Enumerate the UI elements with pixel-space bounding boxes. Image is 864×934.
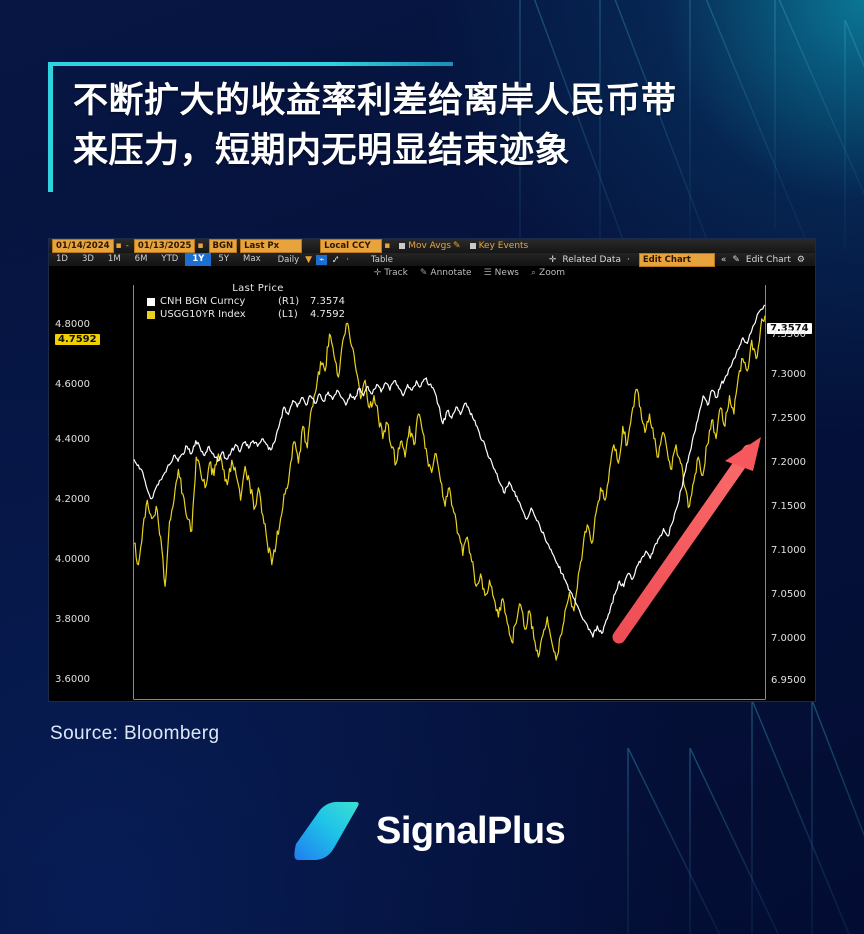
mov-avgs-edit-icon[interactable]: ✎ <box>453 241 461 251</box>
news-tool[interactable]: ☰News <box>484 268 519 278</box>
series-line-usgg10yr-index <box>134 316 765 660</box>
related-data-button[interactable]: Related Data <box>562 255 621 265</box>
terminal-toolbar-row-1: 01/14/2024 ▪ - 01/13/2025 ▪ BGN Last Px … <box>49 239 815 253</box>
chart-series-svg <box>49 279 816 702</box>
period-1d[interactable]: 1D <box>49 253 75 266</box>
brand-name: SignalPlus <box>376 810 565 853</box>
currency-dropdown-icon[interactable]: ▪ <box>384 241 390 251</box>
legend-axis-usgg10yr: (L1) <box>278 308 310 321</box>
price-field-selector[interactable]: Last Px <box>240 239 302 253</box>
date-to-field[interactable]: 01/13/2025 <box>134 239 196 253</box>
annotate-tool[interactable]: ✎Annotate <box>420 268 472 278</box>
period-1y[interactable]: 1Y <box>185 253 211 266</box>
table-button[interactable]: Table <box>367 255 397 265</box>
chart-legend: Last Price CNH BGN Curncy (R1) 7.3574 US… <box>144 281 351 323</box>
chart-axis-lines <box>134 285 766 700</box>
signalplus-logo-icon <box>290 800 362 862</box>
frequency-dropdown-icon[interactable]: ▼ <box>305 255 312 265</box>
legend-item-usgg10yr: USGG10YR Index (L1) 4.7592 <box>147 308 345 321</box>
currency-selector[interactable]: Local CCY <box>320 239 382 253</box>
track-tool[interactable]: ✛Track <box>374 268 408 278</box>
zoom-icon: ⌕ <box>531 268 536 278</box>
date-from-dropdown-icon[interactable]: ▪ <box>116 241 122 251</box>
chart-plot-area: Last Price CNH BGN Curncy (R1) 7.3574 US… <box>49 279 815 701</box>
mov-avgs-checkbox[interactable] <box>399 243 405 249</box>
title-block: 不断扩大的收益率利差给离岸人民币带 来压力，短期内无明显结束迹象 <box>48 62 838 175</box>
source-code-field[interactable]: BGN <box>209 239 238 253</box>
title-top-rule <box>48 62 453 66</box>
track-label: Track <box>384 268 408 278</box>
period-ytd[interactable]: YTD <box>154 253 185 266</box>
mov-avgs-label[interactable]: Mov Avgs <box>408 241 451 251</box>
legend-name-cnh: CNH BGN Curncy <box>160 295 278 308</box>
key-events-label[interactable]: Key Events <box>479 241 529 251</box>
page-title-line-1: 不断扩大的收益率利差给离岸人民币带 <box>73 76 843 126</box>
edit-input-field[interactable]: Edit Chart <box>639 253 715 267</box>
bloomberg-chart-panel: 01/14/2024 ▪ - 01/13/2025 ▪ BGN Last Px … <box>48 238 816 702</box>
source-caption: Source: Bloomberg <box>50 723 219 745</box>
legend-item-cnh: CNH BGN Curncy (R1) 7.3574 <box>147 295 345 308</box>
edit-chart-button[interactable]: Edit Chart <box>746 255 791 265</box>
legend-swatch-usgg10yr <box>147 311 155 319</box>
more-options-icon[interactable]: · <box>342 255 353 265</box>
title-left-accent-bar <box>48 62 53 192</box>
gear-icon[interactable]: ⚙ <box>797 255 805 265</box>
page-title-line-2: 来压力，短期内无明显结束迹象 <box>73 126 843 176</box>
period-max[interactable]: Max <box>236 253 268 266</box>
related-data-dropdown-icon[interactable]: · <box>627 255 630 265</box>
legend-value-cnh: 7.3574 <box>310 295 345 308</box>
legend-heading: Last Price <box>147 282 345 295</box>
legend-name-usgg10yr: USGG10YR Index <box>160 308 278 321</box>
period-1m[interactable]: 1M <box>101 253 128 266</box>
period-6m[interactable]: 6M <box>128 253 155 266</box>
period-3d[interactable]: 3D <box>75 253 101 266</box>
collapse-icon[interactable]: « <box>721 255 727 265</box>
bar-style-icon[interactable]: ⑇ <box>329 255 342 265</box>
related-data-plus-icon[interactable]: ✛ <box>549 255 557 265</box>
zoom-tool[interactable]: ⌕Zoom <box>531 268 565 278</box>
legend-axis-cnh: (R1) <box>278 295 310 308</box>
date-range-dash: - <box>126 241 129 251</box>
legend-value-usgg10yr: 4.7592 <box>310 308 345 321</box>
date-from-field[interactable]: 01/14/2024 <box>52 239 114 253</box>
annotate-label: Annotate <box>430 268 471 278</box>
key-events-checkbox[interactable] <box>470 243 476 249</box>
frequency-selector[interactable]: Daily <box>274 255 304 265</box>
news-icon: ☰ <box>484 268 492 278</box>
terminal-toolbar-row-3: ✛Track ✎Annotate ☰News ⌕Zoom <box>49 266 815 279</box>
period-5y[interactable]: 5Y <box>211 253 236 266</box>
terminal-toolbar-row-2: 1D 3D 1M 6M YTD 1Y 5Y Max Daily ▼ ⌁ ⑇ · … <box>49 253 815 266</box>
track-icon: ✛ <box>374 268 382 278</box>
chart-type-icon[interactable]: ⌁ <box>316 255 327 265</box>
edit-chart-pencil-icon[interactable]: ✎ <box>732 255 740 265</box>
date-to-dropdown-icon[interactable]: ▪ <box>197 241 203 251</box>
brand-logo: SignalPlus <box>290 800 565 862</box>
page-title: 不断扩大的收益率利差给离岸人民币带 来压力，短期内无明显结束迹象 <box>73 62 843 175</box>
zoom-label: Zoom <box>539 268 565 278</box>
trend-arrow-annotation <box>619 437 761 637</box>
legend-swatch-cnh <box>147 298 155 306</box>
annotate-icon: ✎ <box>420 268 428 278</box>
news-label: News <box>495 268 519 278</box>
